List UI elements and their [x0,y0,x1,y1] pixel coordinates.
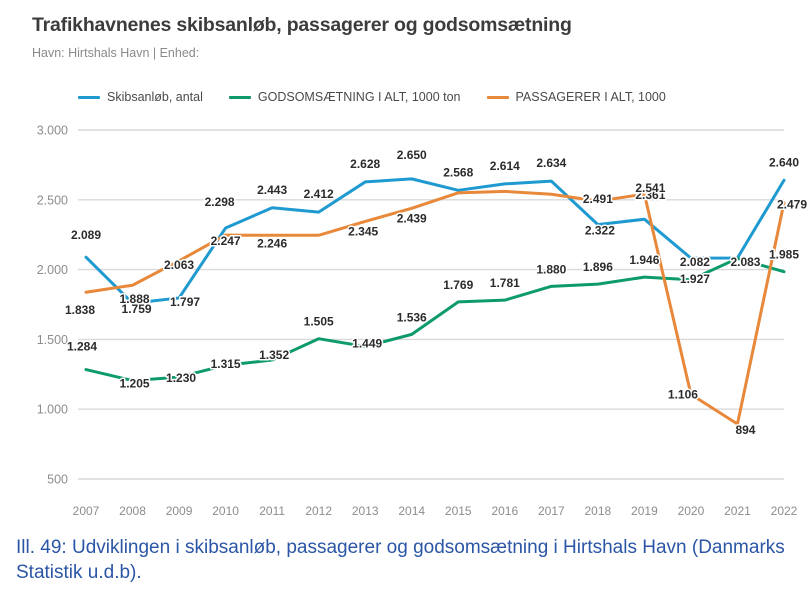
data-point-label: 1.896 [583,260,613,274]
y-axis-tick-label: 1.500 [37,333,68,347]
data-point-label: 2.322 [585,224,615,238]
y-axis-tick-label: 2.500 [37,193,68,207]
data-point-label: 1.315 [211,357,241,371]
data-point-label: 2.439 [397,211,427,225]
data-point-label: 894 [735,423,755,437]
data-point-label: 1.449 [352,337,382,351]
data-point-label: 1.352 [259,348,289,362]
data-point-label: 2.541 [635,181,665,195]
data-point-label: 1.106 [668,387,698,401]
x-axis-tick-label: 2012 [305,504,332,518]
data-point-label: 2.640 [769,155,799,169]
data-point-label: 1.769 [443,278,473,292]
legend-item-gods[interactable]: GODSOMSÆTNING I ALT, 1000 ton [229,90,461,104]
data-point-label: 2.614 [490,159,520,173]
data-point-label: 2.247 [211,234,241,248]
legend-item-passagerer[interactable]: PASSAGERER I ALT, 1000 [487,90,666,104]
chart-data-labels: 2.0891.7591.7972.2982.4432.4122.6282.650… [65,148,807,437]
chart-y-axis-labels: 3.0002.5002.0001.5001.000500 [37,124,68,487]
chart-x-axis-labels: 2007200820092010201120122013201420152016… [73,504,798,518]
x-axis-tick-label: 2009 [166,504,193,518]
data-point-label: 2.634 [536,156,566,170]
x-axis-tick-label: 2010 [212,504,239,518]
data-point-label: 1.880 [536,262,566,276]
x-axis-tick-label: 2014 [398,504,425,518]
legend-swatch-skibsanloeb [78,96,100,99]
y-axis-tick-label: 1.000 [37,403,68,417]
x-axis-tick-label: 2008 [119,504,146,518]
x-axis-tick-label: 2018 [585,504,612,518]
y-axis-tick-label: 2.000 [37,263,68,277]
data-point-label: 2.479 [777,198,807,212]
data-point-label: 1.838 [65,303,95,317]
x-axis-tick-label: 2021 [724,504,751,518]
chart-page: Trafikhavnenes skibsanløb, passagerer og… [0,0,808,608]
data-point-label: 2.246 [257,236,287,250]
data-point-label: 1.781 [490,276,520,290]
line-chart-svg: 3.0002.5002.0001.5001.000500 2.0891.7591… [0,118,808,518]
legend-label-passagerer: PASSAGERER I ALT, 1000 [516,90,666,104]
data-point-label: 1.797 [170,295,200,309]
data-point-label: 2.345 [348,224,378,238]
x-axis-tick-label: 2022 [771,504,798,518]
legend-swatch-gods [229,96,251,99]
data-point-label: 2.082 [680,255,710,269]
data-point-label: 2.063 [164,258,194,272]
x-axis-tick-label: 2017 [538,504,565,518]
data-point-label: 1.284 [67,340,97,354]
x-axis-tick-label: 2013 [352,504,379,518]
x-axis-tick-label: 2015 [445,504,472,518]
chart-legend: Skibsanløb, antal GODSOMSÆTNING I ALT, 1… [78,90,666,104]
y-axis-tick-label: 500 [47,473,68,487]
x-axis-tick-label: 2007 [73,504,100,518]
data-point-label: 2.650 [397,148,427,162]
legend-swatch-passagerer [487,96,509,99]
data-point-label: 2.443 [257,183,287,197]
legend-item-skibsanloeb[interactable]: Skibsanløb, antal [78,90,203,104]
chart-subtitle: Havn: Hirtshals Havn | Enhed: [32,46,199,60]
legend-label-gods: GODSOMSÆTNING I ALT, 1000 ton [258,90,461,104]
data-point-label: 1.505 [304,315,334,329]
data-point-label: 2.491 [583,192,613,206]
chart-plot-area: 3.0002.5002.0001.5001.000500 2.0891.7591… [0,118,808,518]
x-axis-tick-label: 2016 [491,504,518,518]
page-title: Trafikhavnenes skibsanløb, passagerer og… [32,14,572,37]
x-axis-tick-label: 2020 [678,504,705,518]
y-axis-tick-label: 3.000 [37,124,68,138]
data-point-label: 2.089 [71,228,101,242]
data-point-label: 2.628 [350,157,380,171]
data-point-label: 1.985 [769,248,799,262]
data-point-label: 1.205 [120,377,150,391]
data-point-label: 1.536 [397,310,427,324]
x-axis-tick-label: 2019 [631,504,658,518]
data-point-label: 2.412 [304,187,334,201]
data-point-label: 2.568 [443,165,473,179]
data-point-label: 1.888 [120,292,150,306]
data-point-label: 1.946 [629,253,659,267]
data-point-label: 2.083 [730,255,760,269]
figure-caption: Ill. 49: Udviklingen i skibsanløb, passa… [16,535,796,585]
data-point-label: 1.927 [680,272,710,286]
data-point-label: 2.298 [205,195,235,209]
x-axis-tick-label: 2011 [259,504,285,518]
legend-label-skibsanloeb: Skibsanløb, antal [107,90,203,104]
data-point-label: 1.230 [166,371,196,385]
